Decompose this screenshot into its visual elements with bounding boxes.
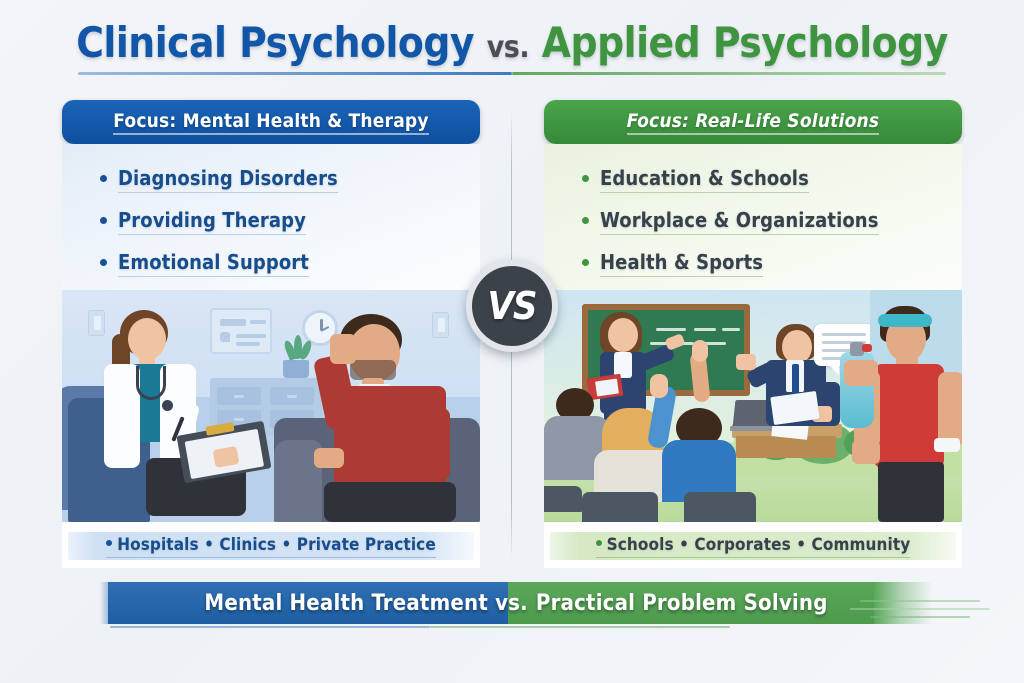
stethoscope-bell — [162, 400, 173, 411]
therapy-session-illustration — [62, 290, 480, 522]
wall-poster — [210, 308, 272, 354]
page-title-wrap: Clinical Psychology vs. Applied Psycholo… — [0, 18, 1024, 67]
athlete-arm-right — [938, 372, 962, 446]
student-hand-raised — [650, 374, 668, 398]
title-underline-blue — [78, 72, 512, 75]
plant-pot-icon — [283, 360, 309, 378]
right-panel-header: Focus: Real-Life Solutions — [544, 100, 962, 144]
left-footer-label: Hospitals • Clinics • Private Practice — [106, 535, 436, 558]
list-item: Providing Therapy — [100, 208, 338, 235]
athlete-hand-holding-bottle — [844, 360, 878, 386]
title-underline-green — [512, 72, 946, 75]
left-panel-header-label: Focus: Mental Health & Therapy — [113, 110, 428, 135]
list-item: Health & Sports — [582, 250, 879, 277]
left-panel-body: Diagnosing Disorders Providing Therapy E… — [62, 144, 480, 568]
summary-banner: Mental Health Treatment vs. Practical Pr… — [100, 578, 932, 628]
businessman-hand-left — [736, 354, 756, 370]
businessman-face — [782, 330, 812, 364]
bullet-dot-icon — [582, 217, 589, 224]
teacher-face — [608, 318, 638, 352]
bullet-dot-icon — [106, 540, 112, 546]
right-bullet-list: Education & Schools Workplace & Organiza… — [582, 166, 879, 292]
headband-icon — [878, 314, 932, 327]
necktie-icon — [792, 364, 799, 394]
title-left-text: Clinical Psychology — [76, 18, 474, 67]
title-right-text: Applied Psychology — [542, 18, 948, 67]
bullet-dot-icon — [582, 175, 589, 182]
stethoscope-icon — [136, 366, 166, 400]
right-footer-label: Schools • Corporates • Community — [596, 535, 911, 558]
bullet-dot-icon — [100, 259, 107, 266]
light-switch-icon — [88, 310, 105, 336]
vs-badge-label: VS — [487, 284, 536, 328]
title-underline — [78, 72, 946, 76]
right-bullet-2: Workplace & Organizations — [600, 208, 879, 235]
therapist-coat-left — [104, 364, 140, 468]
right-bullet-1: Education & Schools — [600, 166, 809, 193]
right-footer-text: Schools • Corporates • Community — [607, 535, 911, 555]
right-panel-body: Education & Schools Workplace & Organiza… — [544, 144, 962, 568]
list-item: Workplace & Organizations — [582, 208, 879, 235]
athlete-hand-left — [852, 440, 880, 464]
left-bullet-1: Diagnosing Disorders — [118, 166, 338, 193]
right-panel-header-label: Focus: Real-Life Solutions — [627, 110, 880, 135]
banner-left-text: Mental Health Treatment vs. — [204, 591, 527, 616]
book-pages — [595, 379, 619, 397]
patient-legs — [324, 482, 456, 522]
applied-psychology-panel: Focus: Real-Life Solutions Education & S… — [544, 100, 962, 568]
banner-right-text: Practical Problem Solving — [536, 591, 828, 616]
left-bullet-3: Emotional Support — [118, 250, 309, 277]
right-bullet-3: Health & Sports — [600, 250, 763, 277]
clinical-psychology-panel: Focus: Mental Health & Therapy Diagnosin… — [62, 100, 480, 568]
bullet-dot-icon — [100, 175, 107, 182]
patient-hand-on-head — [330, 334, 356, 364]
wristband-icon — [934, 438, 960, 452]
light-switch-icon — [432, 312, 449, 338]
list-item: Education & Schools — [582, 166, 879, 193]
vs-badge: VS — [466, 260, 558, 352]
office-desk — [736, 436, 836, 458]
patient-arm-right — [420, 408, 450, 480]
patient-beard — [350, 360, 396, 380]
left-footer-text: Hospitals • Clinics • Private Practice — [117, 535, 436, 555]
list-item: Diagnosing Disorders — [100, 166, 338, 193]
right-footer-strip: Schools • Corporates • Community — [544, 524, 962, 568]
applied-settings-illustration — [544, 290, 962, 522]
patient-hand-resting — [314, 448, 344, 468]
classroom-chair — [684, 492, 756, 522]
page-title: Clinical Psychology vs. Applied Psycholo… — [76, 18, 948, 67]
list-item: Emotional Support — [100, 250, 338, 277]
left-panel-header: Focus: Mental Health & Therapy — [62, 100, 480, 144]
bullet-dot-icon — [596, 540, 602, 546]
bottle-nozzle — [862, 344, 872, 352]
banner-streak — [110, 626, 430, 628]
left-footer-strip: Hospitals • Clinics • Private Practice — [62, 524, 480, 568]
athlete-tank-top — [874, 364, 944, 468]
athlete-shorts — [878, 462, 944, 522]
bullet-dot-icon — [100, 217, 107, 224]
student-hand-raised-2 — [692, 340, 708, 362]
left-bullet-2: Providing Therapy — [118, 208, 306, 235]
classroom-chair — [582, 492, 658, 522]
left-bullet-list: Diagnosing Disorders Providing Therapy E… — [100, 166, 338, 292]
summary-banner-text: Mental Health Treatment vs. Practical Pr… — [100, 582, 932, 624]
classroom-chair — [544, 486, 582, 512]
title-vs-text: vs. — [487, 30, 529, 65]
bullet-dot-icon — [582, 259, 589, 266]
banner-streak — [430, 626, 730, 628]
